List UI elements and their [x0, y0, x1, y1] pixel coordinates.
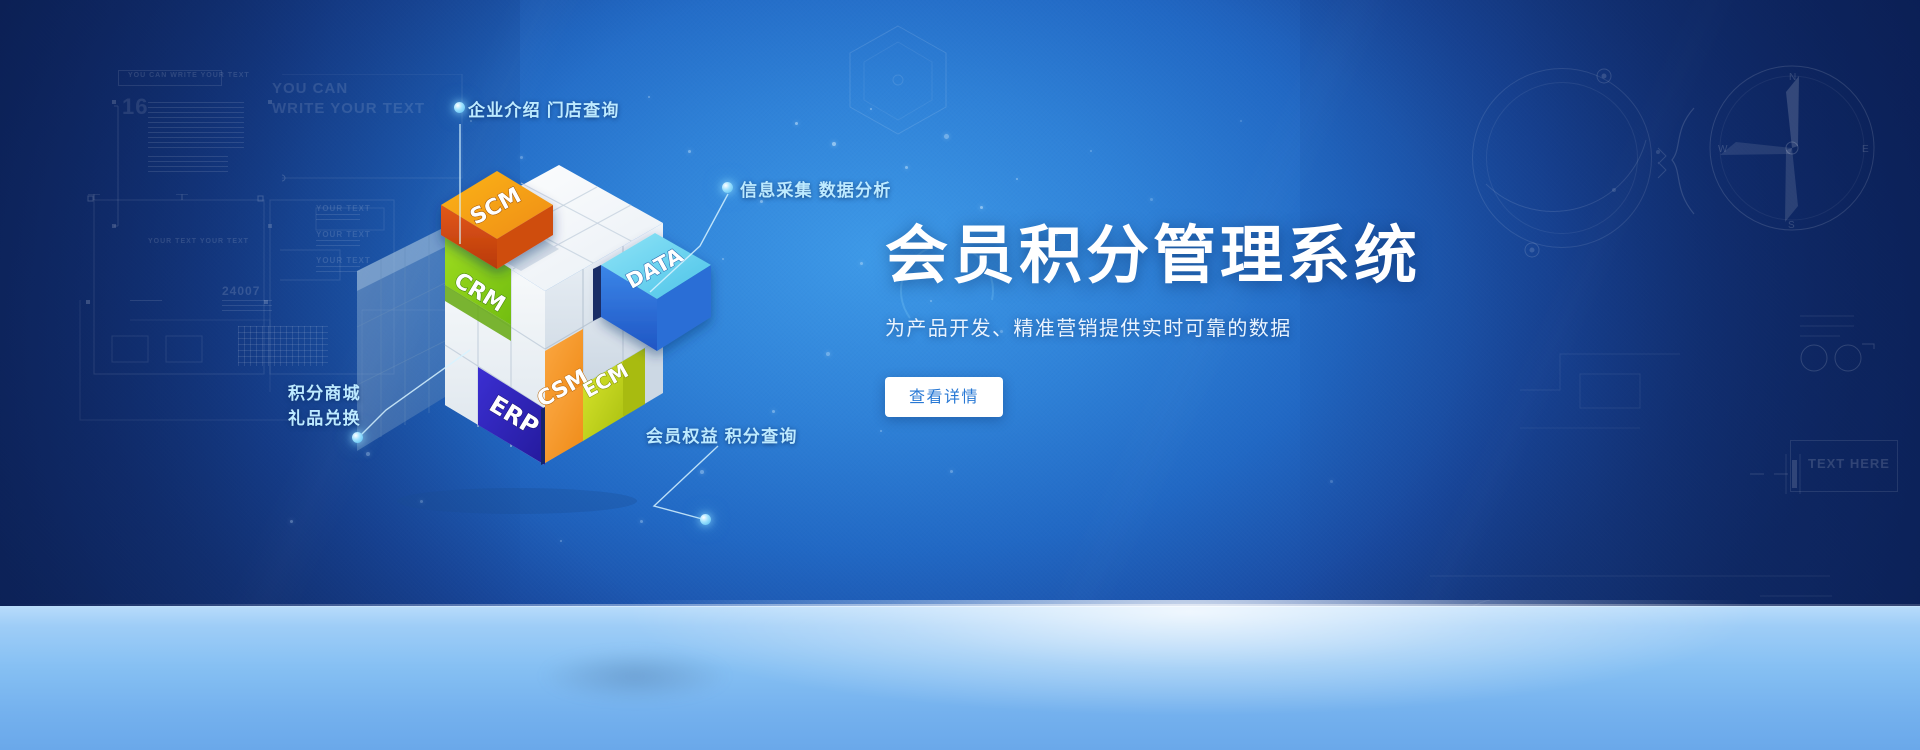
callout-left-line1: 积分商城: [288, 382, 361, 407]
callout-dot-top: [454, 102, 465, 113]
callout-dot-right: [722, 182, 733, 193]
floor-highlight-glow: [0, 600, 1920, 750]
callout-top: 企业介绍 门店查询: [468, 98, 620, 124]
callout-bottom: 会员权益 积分查询: [646, 424, 798, 450]
page-subtitle: 为产品开发、精准营销提供实时可靠的数据: [885, 312, 1605, 341]
leader-line-bottom: [596, 440, 726, 560]
callout-right: 信息采集 数据分析: [740, 178, 892, 204]
callout-left-line2: 礼品兑换: [288, 407, 361, 432]
hero-banner: YOU CAN WRITE YOUR TEXT 16 YOU CAN WRITE…: [0, 0, 1920, 750]
page-title: 会员积分管理系统: [885, 222, 1605, 290]
floor-shadow-smudge: [540, 650, 730, 702]
hero-copy-block: 会员积分管理系统 为产品开发、精准营销提供实时可靠的数据 查看详情: [885, 222, 1605, 417]
leader-line-left: [352, 338, 482, 448]
view-details-button[interactable]: 查看详情: [885, 377, 1003, 417]
leader-line-right: [642, 188, 762, 298]
leader-line-top: [452, 116, 492, 256]
callout-left: 积分商城 礼品兑换: [288, 382, 361, 431]
callout-dot-bottom: [700, 514, 711, 525]
callout-dot-left: [352, 432, 363, 443]
